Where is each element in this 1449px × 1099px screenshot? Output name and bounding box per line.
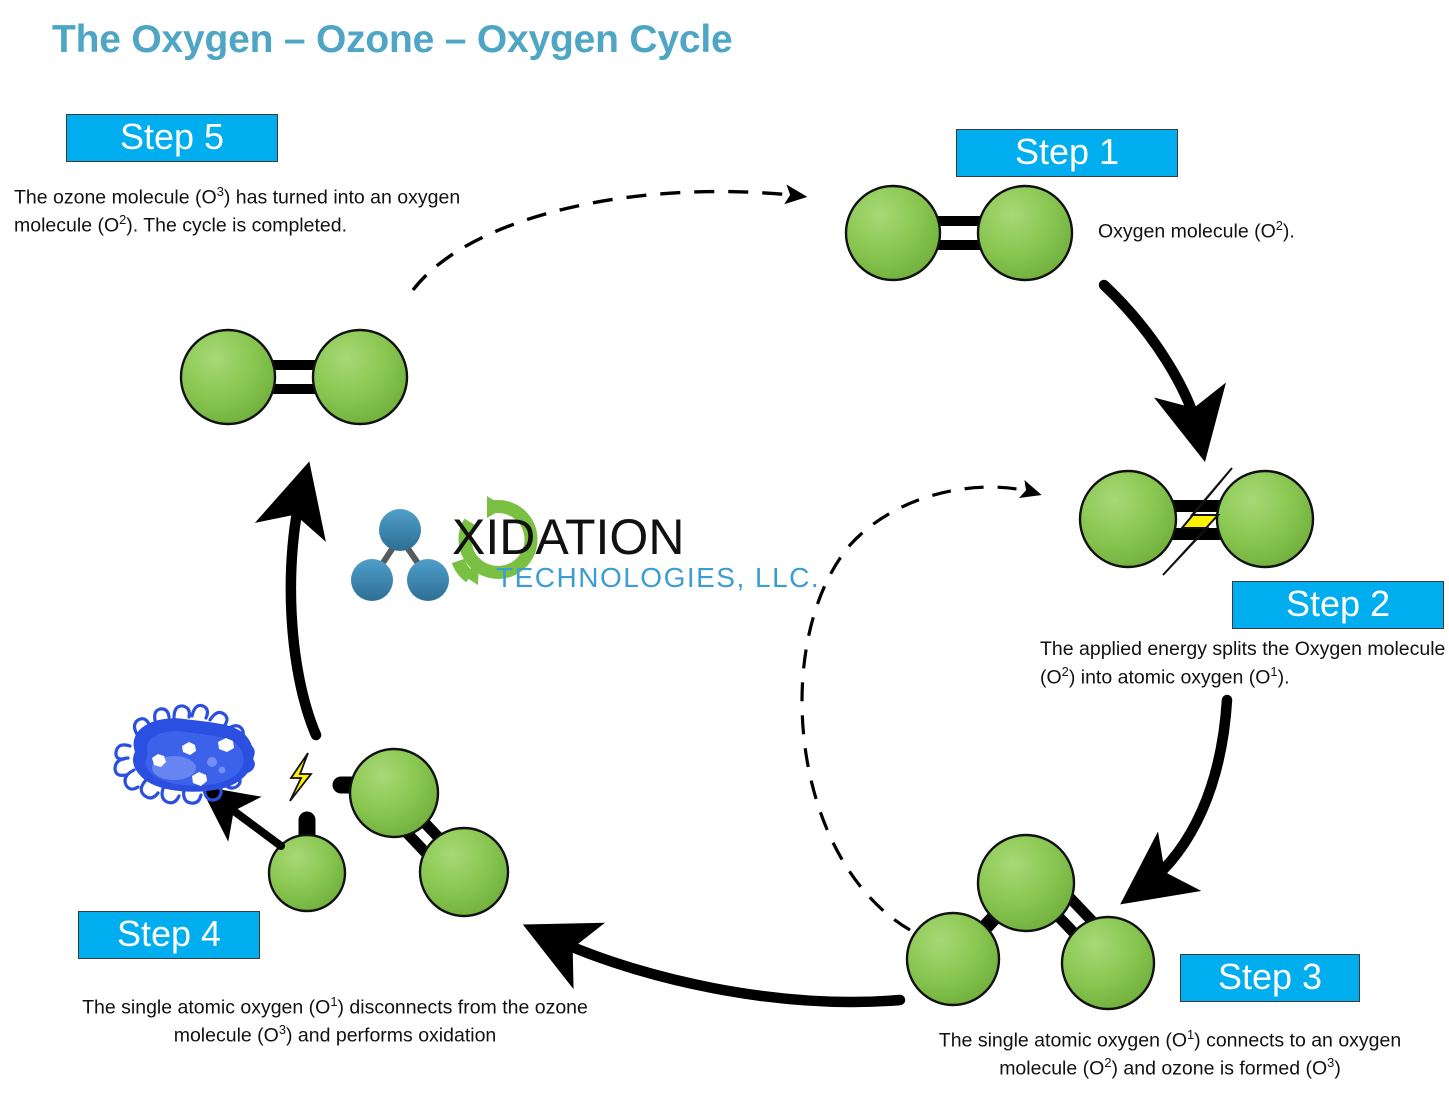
molecule-step5-o2 [181, 330, 407, 424]
arrow-step3-to-step4 [545, 935, 900, 1002]
step-caption-4: The single atomic oxygen (O1) disconnect… [80, 993, 590, 1050]
step-badge-3[interactable]: Step 3 [1180, 954, 1360, 1002]
molecule-step4-o3-splitting [215, 749, 508, 916]
step-badge-1[interactable]: Step 1 [956, 129, 1178, 177]
molecule-step2-o2-energized [1080, 468, 1313, 575]
logo-tagline: TECHNOLOGIES, LLC. [496, 562, 820, 594]
arrow-oxygen-to-bacteria [215, 797, 281, 846]
diagram-canvas: The Oxygen – Ozone – Oxygen Cycle Step 5… [0, 0, 1449, 1099]
step-badge-2[interactable]: Step 2 [1232, 581, 1444, 629]
bacteria-icon [115, 705, 253, 803]
arrow-step4-to-step5 [291, 485, 316, 735]
step-caption-5: The ozone molecule (O3) has turned into … [14, 183, 484, 240]
step-caption-3: The single atomic oxygen (O1) connects t… [935, 1026, 1405, 1083]
page-title: The Oxygen – Ozone – Oxygen Cycle [52, 18, 732, 62]
step-caption-1: Oxygen molecule (O2). [1098, 217, 1428, 245]
step-badge-4[interactable]: Step 4 [78, 911, 260, 959]
logo-wordmark: XIDATION [452, 508, 684, 566]
arrow-step2-to-step3 [1140, 700, 1227, 890]
step-caption-2: The applied energy splits the Oxygen mol… [1040, 637, 1449, 691]
step-badge-5[interactable]: Step 5 [66, 114, 278, 162]
arrow-step1-to-step2 [1104, 285, 1200, 438]
lightning-bolt-icon-step4 [290, 753, 311, 801]
molecule-step1-o2 [846, 186, 1072, 280]
molecule-step3-o3 [907, 835, 1154, 1009]
company-logo: XIDATION TECHNOLOGIES, LLC. [360, 500, 780, 610]
